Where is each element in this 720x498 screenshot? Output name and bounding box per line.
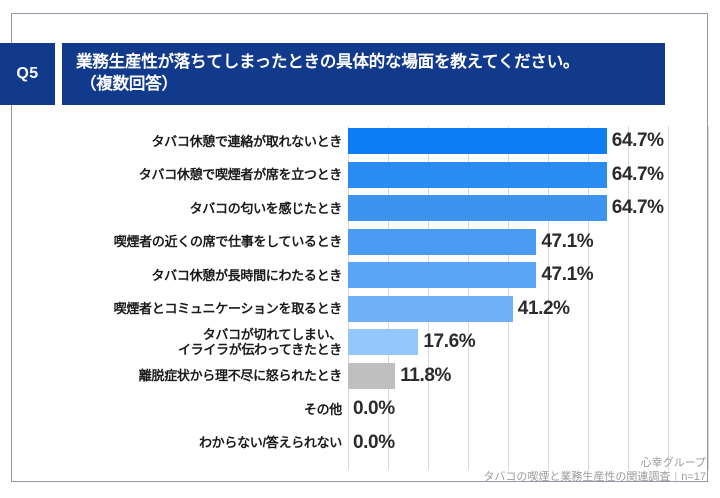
category-label: タバコの匂いを感じたとき — [22, 201, 342, 216]
chart-row: タバコ休憩で連絡が取れないとき64.7% — [348, 126, 708, 156]
category-label: タバコ休憩で連絡が取れないとき — [22, 134, 342, 149]
question-number-badge: Q5 — [0, 43, 55, 105]
chart-plot-area: タバコ休憩で連絡が取れないとき64.7%タバコ休憩で喫煙者が席を立つとき64.7… — [348, 126, 708, 470]
bar-value-label: 64.7% — [612, 130, 664, 152]
bar — [348, 363, 395, 389]
category-label: 喫煙者の近くの席で仕事をしているとき — [22, 234, 342, 249]
footer-survey-info: タバコの喫煙と業務生産性の関連調査|n=17 — [483, 470, 706, 484]
chart-row: タバコが切れてしまい、 イライラが伝わってきたとき17.6% — [348, 327, 708, 357]
bar-value-label: 11.8% — [400, 365, 451, 387]
chart-row: 離脱症状から理不尽に怒られたとき11.8% — [348, 361, 708, 391]
bar — [348, 128, 607, 154]
bar-value-label: 0.0% — [353, 432, 395, 454]
category-label: その他 — [22, 402, 342, 417]
category-label: タバコ休憩で喫煙者が席を立つとき — [22, 167, 342, 182]
category-label: 離脱症状から理不尽に怒られたとき — [22, 368, 342, 383]
gridline — [708, 126, 709, 470]
question-number-label: Q5 — [16, 65, 38, 83]
chart-row: 喫煙者とコミュニケーションを取るとき41.2% — [348, 294, 708, 324]
footer: 心幸グループ タバコの喫煙と業務生産性の関連調査|n=17 — [483, 456, 706, 484]
category-label: 喫煙者とコミュニケーションを取るとき — [22, 301, 342, 316]
bar-value-label: 17.6% — [423, 331, 475, 353]
bar — [348, 229, 536, 255]
bar — [348, 195, 607, 221]
question-banner: 業務生産性が落ちてしまったときの具体的な場面を教えてください。 （複数回答） — [62, 43, 665, 105]
bar-chart: タバコ休憩で連絡が取れないとき64.7%タバコ休憩で喫煙者が席を立つとき64.7… — [14, 126, 708, 478]
bar-value-label: 64.7% — [612, 164, 664, 186]
category-label: タバコが切れてしまい、 イライラが伝わってきたとき — [22, 327, 342, 357]
footer-separator: | — [674, 471, 677, 483]
chart-row: タバコ休憩で喫煙者が席を立つとき64.7% — [348, 160, 708, 190]
question-text-line2: （複数回答） — [76, 73, 665, 95]
chart-row: 喫煙者の近くの席で仕事をしているとき47.1% — [348, 227, 708, 257]
bar-value-label: 64.7% — [612, 197, 664, 219]
category-label: わからない/答えられない — [22, 435, 342, 450]
category-label: タバコ休憩が長時間にわたるとき — [22, 268, 342, 283]
bar — [348, 262, 536, 288]
footer-survey-name: タバコの喫煙と業務生産性の関連調査 — [483, 471, 670, 483]
bar-value-label: 41.2% — [518, 298, 570, 320]
bar — [348, 296, 513, 322]
question-text-line1: 業務生産性が落ちてしまったときの具体的な場面を教えてください。 — [76, 51, 665, 73]
chart-row: その他0.0% — [348, 394, 708, 424]
chart-row: タバコ休憩が長時間にわたるとき47.1% — [348, 260, 708, 290]
footer-sample-size: n=17 — [681, 471, 706, 483]
bar-value-label: 47.1% — [541, 231, 593, 253]
slide: Q5 業務生産性が落ちてしまったときの具体的な場面を教えてください。 （複数回答… — [0, 0, 720, 498]
bar — [348, 162, 607, 188]
chart-row: タバコの匂いを感じたとき64.7% — [348, 193, 708, 223]
chart-rows: タバコ休憩で連絡が取れないとき64.7%タバコ休憩で喫煙者が席を立つとき64.7… — [348, 126, 708, 470]
bar-value-label: 0.0% — [353, 398, 395, 420]
footer-brand: 心幸グループ — [483, 456, 706, 470]
bar-value-label: 47.1% — [541, 264, 593, 286]
bar — [348, 329, 418, 355]
chart-row: わからない/答えられない0.0% — [348, 428, 708, 458]
